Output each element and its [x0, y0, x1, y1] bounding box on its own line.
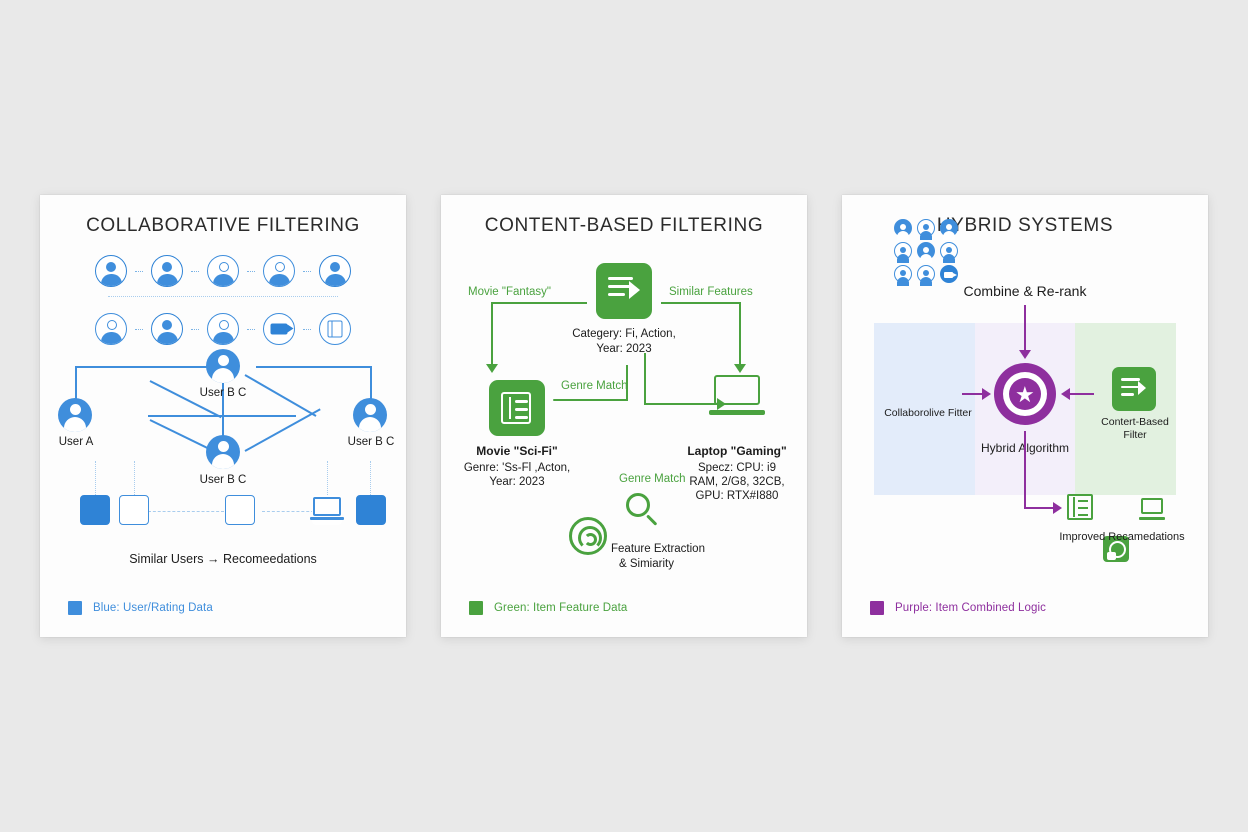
- dotted-link: [191, 271, 199, 272]
- arrow-head: [1019, 350, 1031, 359]
- user-avatar-outline-icon: [95, 313, 127, 345]
- mini-grid-row: [894, 242, 958, 260]
- item-row: [62, 495, 384, 541]
- user-avatar-icon: [894, 265, 912, 283]
- network-node-left: [58, 398, 92, 432]
- network-edge: [148, 415, 296, 417]
- user-avatar-outline-icon: [207, 313, 239, 345]
- document-item-icon: [119, 495, 149, 525]
- network-edge: [245, 374, 317, 417]
- user-avatar-outline-icon: [263, 255, 295, 287]
- search-icon: [626, 493, 660, 527]
- laptop-icon: [709, 375, 765, 415]
- arrow-line: [1024, 305, 1026, 353]
- dotted-link: [303, 271, 311, 272]
- legend-label-purple: Purple: Item Combined Logic: [895, 602, 1046, 614]
- content-based-video-icon: [1112, 367, 1156, 411]
- grid-connector: [108, 296, 338, 304]
- item-connector: [95, 461, 96, 495]
- hybrid-algorithm-icon: [994, 363, 1056, 425]
- network-edge: [75, 366, 223, 368]
- arrow-head: [734, 364, 746, 373]
- collaborative-mini-grid: [894, 219, 958, 283]
- user-avatar-icon: [940, 242, 958, 260]
- user-avatar-icon: [894, 242, 912, 260]
- laptop-meta-line1: Specz: CPU: i9: [674, 462, 800, 474]
- recommendation-book-icon: [1067, 494, 1093, 520]
- source-video-icon: [596, 263, 652, 319]
- laptop-title: Laptop "Gaming": [678, 444, 796, 458]
- left-arrow-label: Movie "Fantasy": [468, 286, 551, 298]
- arrow-line: [491, 302, 493, 367]
- user-avatar-icon: [940, 219, 958, 237]
- content-filter-label-line2: Filter: [1087, 429, 1183, 441]
- video-camera-icon: [940, 265, 958, 283]
- discover-search-icon: [225, 495, 255, 525]
- arrow-line: [962, 393, 984, 395]
- panel-title-collaborative: COLLABORATIVE FILTERING: [40, 195, 406, 237]
- network-node-label: User B C: [200, 387, 247, 399]
- bracket-line: [553, 399, 628, 401]
- video-item-icon: [80, 495, 110, 525]
- legend-hybrid: Purple: Item Combined Logic: [870, 601, 1046, 615]
- user-avatar-icon: [319, 255, 351, 287]
- network-node-bottom: [206, 435, 240, 469]
- legend-swatch-purple: [870, 601, 884, 615]
- media-list-item-icon: [356, 495, 386, 525]
- user-grid-row-1: [95, 255, 351, 287]
- laptop-meta-line2: RAM, 2/G8, 32CB,: [674, 476, 800, 488]
- network-edge: [150, 380, 222, 418]
- laptop-meta-line3: GPU: RTX#I880: [674, 490, 800, 502]
- dotted-link: [247, 271, 255, 272]
- movie-title: Movie "Sci-Fi": [459, 444, 575, 458]
- user-avatar-icon: [151, 255, 183, 287]
- dotted-link: [135, 271, 143, 272]
- network-node-label: User A: [59, 436, 94, 448]
- content-filter-label-line1: Contert-Based: [1087, 416, 1183, 428]
- legend-label-blue: Blue: User/Rating Data: [93, 602, 213, 614]
- arrow-head: [486, 364, 498, 373]
- legend-collaborative: Blue: User/Rating Data: [68, 601, 213, 615]
- recommendation-laptop-icon: [1139, 497, 1165, 523]
- network-node-label: User B C: [200, 474, 247, 486]
- dotted-link: [191, 329, 199, 330]
- movie-meta-line2: Year: 2023: [449, 476, 585, 488]
- network-node-right: [353, 398, 387, 432]
- arrow-line: [739, 302, 741, 367]
- bracket-line: [626, 365, 628, 401]
- genre-match-left-label: Genre Match: [561, 380, 627, 392]
- arrow-head: [1053, 502, 1062, 514]
- panel-content-based-filtering: CONTENT-BASED FILTERING Categery: Fi, Ac…: [441, 195, 807, 637]
- arrow-line: [1024, 507, 1056, 509]
- user-avatar-icon: [95, 255, 127, 287]
- source-meta-line2: Year: 2023: [534, 343, 714, 355]
- legend-label-green: Green: Item Feature Data: [494, 602, 627, 614]
- network-node-top: [206, 349, 240, 383]
- source-meta-line1: Categery: Fi, Action,: [534, 328, 714, 340]
- arrow-head: [982, 388, 991, 400]
- panel-hybrid-systems: HYBRID SYSTEMS Combine & Re-rank: [842, 195, 1208, 637]
- legend-swatch-green: [469, 601, 483, 615]
- movie-list-icon: [489, 380, 545, 436]
- feature-line2: & Simiarity: [619, 558, 759, 570]
- user-avatar-icon: [894, 219, 912, 237]
- user-grid-row-2: [95, 313, 351, 345]
- user-avatar-icon: [917, 242, 935, 260]
- laptop-item-icon: [312, 495, 342, 525]
- dotted-link: [247, 329, 255, 330]
- collaborative-caption: Similar Users → Recomeedations: [40, 552, 406, 566]
- legend-content-based: Green: Item Feature Data: [469, 601, 627, 615]
- dotted-link: [135, 329, 143, 330]
- spiral-similarity-icon: [569, 517, 607, 555]
- right-arrow-label: Similar Features: [669, 286, 753, 298]
- user-avatar-icon: [151, 313, 183, 345]
- network-node-label: User B C: [348, 436, 395, 448]
- content-based-diagram: Categery: Fi, Action, Year: 2023 Movie "…: [441, 195, 807, 637]
- arrow-line: [1024, 431, 1026, 509]
- item-connector: [148, 511, 224, 512]
- improved-recommendations-label: Improved Recamedations: [1038, 531, 1206, 543]
- legend-swatch-blue: [68, 601, 82, 615]
- user-avatar-outline-icon: [207, 255, 239, 287]
- item-connector: [327, 461, 328, 495]
- dotted-link: [303, 329, 311, 330]
- arrow-line: [1070, 393, 1094, 395]
- arrow-line: [661, 302, 741, 304]
- video-camera-icon: [263, 313, 295, 345]
- collaborative-filter-label: Collaborolive Fitter: [872, 407, 984, 419]
- item-connector: [370, 461, 371, 495]
- arrow-line: [491, 302, 587, 304]
- user-avatar-icon: [917, 265, 935, 283]
- book-icon: [319, 313, 351, 345]
- feature-line1: Feature Extraction: [611, 543, 751, 555]
- mini-grid-row: [894, 219, 958, 237]
- genre-match-center-label: Genre Match: [619, 473, 685, 485]
- movie-meta-line1: Genre: 'Ss-Fl ,Acton,: [449, 462, 585, 474]
- arrow-line: [644, 353, 646, 405]
- slide-board: COLLABORATIVE FILTERING: [0, 0, 1248, 832]
- network-edge: [256, 366, 372, 368]
- arrow-head: [1061, 388, 1070, 400]
- mini-grid-row: [894, 265, 958, 283]
- user-item-grid: [40, 255, 406, 345]
- item-connector: [134, 461, 135, 495]
- user-avatar-icon: [917, 219, 935, 237]
- panel-collaborative-filtering: COLLABORATIVE FILTERING: [40, 195, 406, 637]
